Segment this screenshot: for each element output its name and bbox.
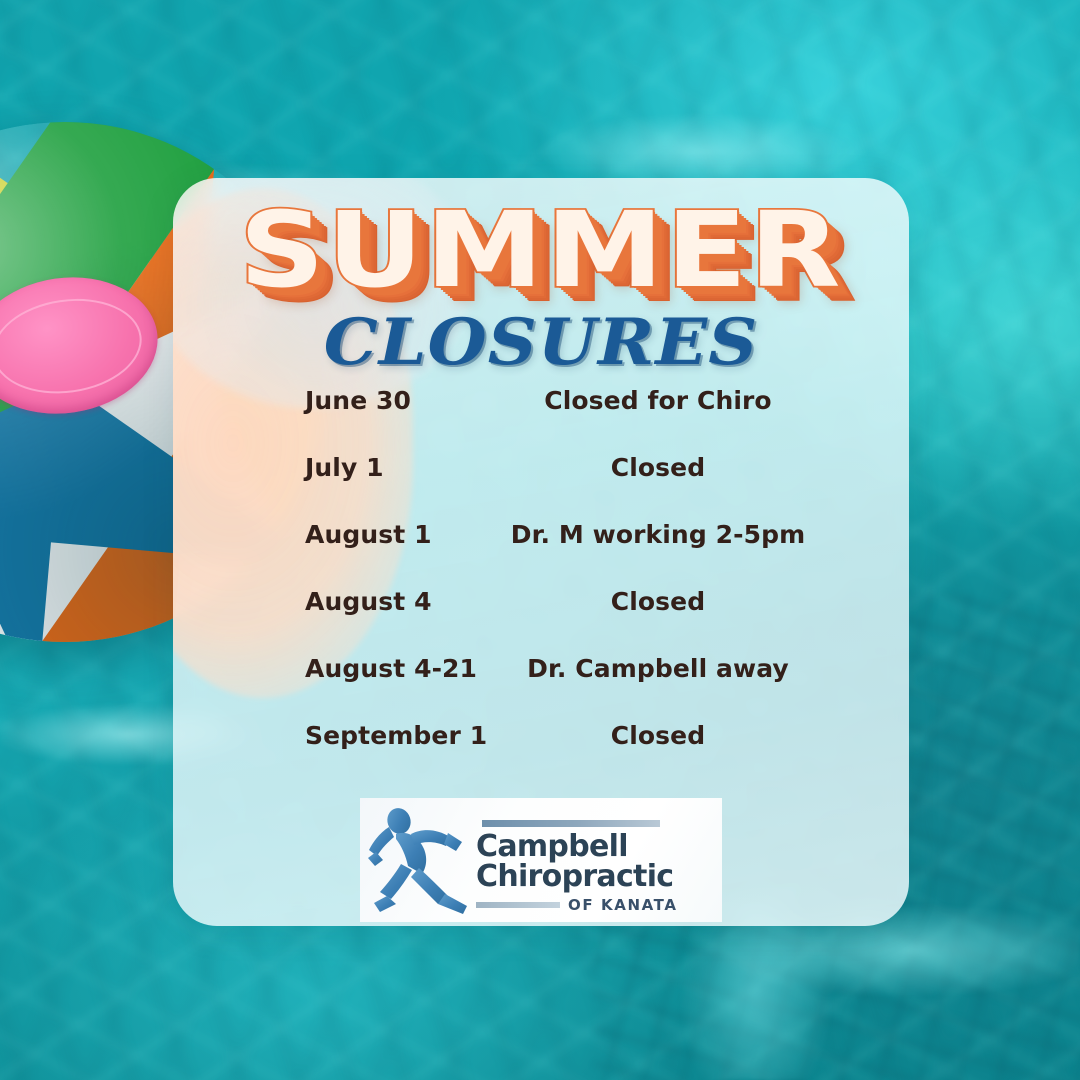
running-figure-icon [366,804,474,916]
schedule-note: Closed for Chiro [501,386,815,415]
schedule-row: July 1 Closed [305,453,815,520]
schedule-row: September 1 Closed [305,721,815,788]
schedule-row: August 4 Closed [305,587,815,654]
schedule-row: August 4-21 Dr. Campbell away [305,654,815,721]
schedule-date: August 1 [305,520,501,549]
schedule-date: June 30 [305,386,501,415]
logo-name: Campbell Chiropractic [476,831,722,892]
schedule-date: August 4 [305,587,501,616]
logo-tagline-row: OF KANATA [476,896,722,914]
content-card: SUMMER CLOSURES June 30 Closed for Chiro… [173,178,909,926]
closure-schedule-list: June 30 Closed for Chiro July 1 Closed A… [305,386,815,788]
schedule-note: Closed [501,721,815,750]
logo-rule-bottom [476,902,560,908]
logo-name-line2: Chiropractic [476,861,722,892]
poster-canvas: SUMMER CLOSURES June 30 Closed for Chiro… [0,0,1080,1080]
logo-rule-top [482,820,660,827]
schedule-date: August 4-21 [305,654,501,683]
schedule-note: Dr. Campbell away [501,654,815,683]
schedule-note: Closed [501,587,815,616]
schedule-row: June 30 Closed for Chiro [305,386,815,453]
schedule-date: July 1 [305,453,501,482]
title-closures: CLOSURES [173,310,909,376]
schedule-note: Dr. M working 2-5pm [501,520,815,549]
title-summer: SUMMER [173,196,909,304]
logo-wordmark: Campbell Chiropractic OF KANATA [476,806,722,914]
schedule-note: Closed [501,453,815,482]
logo-tagline: OF KANATA [568,896,678,914]
schedule-date: September 1 [305,721,501,750]
schedule-row: August 1 Dr. M working 2-5pm [305,520,815,587]
title-block: SUMMER CLOSURES [173,196,909,376]
campbell-chiropractic-logo: Campbell Chiropractic OF KANATA [360,798,722,922]
